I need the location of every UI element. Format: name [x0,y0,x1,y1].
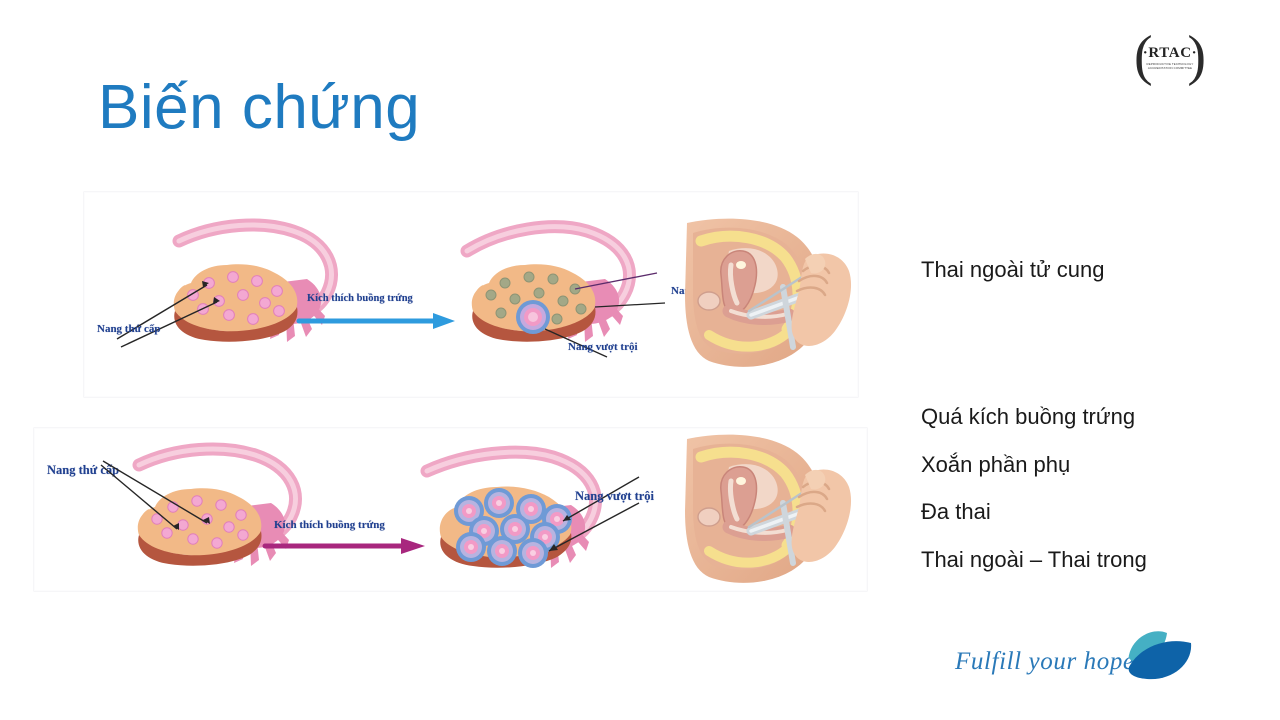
transvaginal-oocyte-retrieval-illustration-top [685,215,861,375]
complication-item-ohss: Quá kích buồng trứng [921,404,1135,430]
stimulation-arrow-bottom [263,537,428,555]
dominant-follicle-top [516,300,550,334]
transvaginal-oocyte-retrieval-illustration-bottom [685,431,861,591]
label-stimulation-bottom: Kích thích buồng trứng [274,519,385,531]
complication-item-multiple-pregnancy: Đa thai [921,499,991,525]
complication-item-adnexal-torsion: Xoắn phần phụ [921,452,1070,478]
label-secondary-follicle-top: Nang thứ cấp [97,323,160,335]
rtac-wordmark: ·RTAC· [1134,45,1206,62]
rtac-logo: ( ) ·RTAC· REPRODUCTIVE TECHNOLOGY ACCRE… [1134,28,1206,88]
page-title: Biến chứng [98,72,420,143]
ovary-baseline-illustration-bottom [123,431,333,581]
rtac-subtitle: REPRODUCTIVE TECHNOLOGY ACCREDITATION CO… [1142,62,1199,70]
label-stimulation-top: Kích thích buồng trứng [307,293,413,304]
ovary-hyperstimulated-illustration [427,433,637,583]
ovary-baseline-illustration [157,207,357,357]
figure-panel-top: Nang thứ cấp Kích thích buồng trứng [84,192,858,397]
figure-panel-bottom: Nang thứ cấp [34,428,867,591]
slide-canvas: Biến chứng ( ) ·RTAC· REPRODUCTIVE TECHN… [0,0,1280,720]
label-dominant-follicle-top: Nang vượt trội [568,341,638,353]
complication-item-ectopic-pregnancy: Thai ngoài tử cung [921,257,1105,283]
ovary-stimulated-illustration [457,207,657,357]
company-leaf-logo [1113,627,1201,685]
complication-item-heterotopic-pregnancy: Thai ngoài – Thai trong [921,547,1147,573]
stimulation-arrow-top [297,312,457,330]
footer-tagline: Fulfill your hope [955,648,1135,676]
label-dominant-follicle-bottom: Nang vượt trội [575,489,654,504]
